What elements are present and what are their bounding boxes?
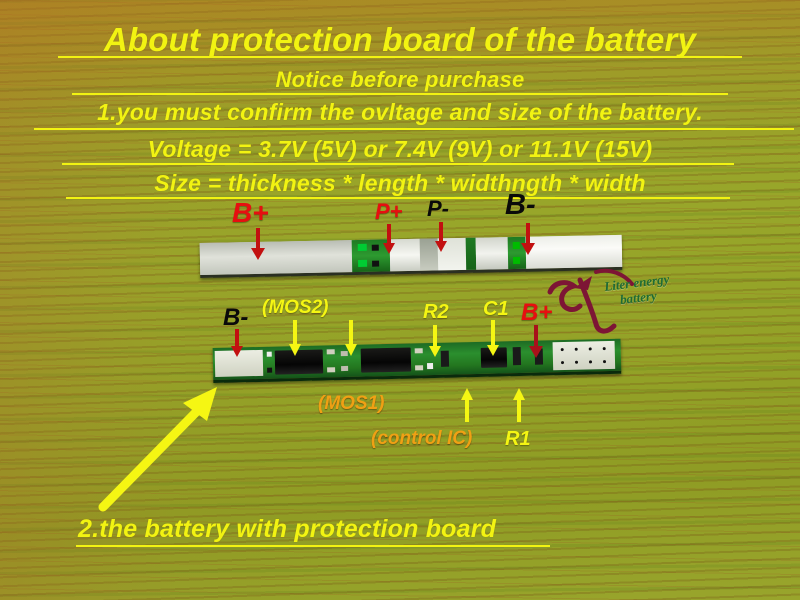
- notice-heading: Notice before purchase: [276, 67, 525, 93]
- voltage-line: Voltage = 3.7V (5V) or 7.4V (9V) or 11.1…: [148, 136, 653, 163]
- arrow-c1: [486, 320, 500, 356]
- label-p-minus-top: P-: [427, 196, 449, 222]
- notice-underline: [72, 93, 728, 95]
- requirement-line-1: 1.you must confirm the ovltage and size …: [97, 99, 703, 126]
- label-mos1: (MOS1): [318, 393, 385, 415]
- label-r1: R1: [505, 428, 531, 451]
- page-title: About protection board of the battery: [104, 21, 696, 59]
- arrow-r2: [428, 325, 442, 357]
- label-r2: R2: [423, 301, 449, 324]
- arrow-b-plus-bottom: [529, 325, 543, 358]
- image-canvas: About protection board of the battery No…: [0, 0, 800, 600]
- size-line: Size = thickness * length * widthngth * …: [154, 170, 645, 197]
- arrow-battery-callout: [95, 375, 245, 515]
- label-control-ic: (control IC): [371, 428, 472, 450]
- label-mos2: (MOS2): [262, 297, 329, 319]
- label-c1: C1: [483, 298, 509, 321]
- label-b-plus-top: B+: [232, 197, 269, 229]
- watermark-text: Liter energy battery: [603, 271, 672, 309]
- label-p-plus-top: P+: [375, 199, 403, 225]
- arrow-r1: [512, 388, 526, 422]
- label-b-minus-top: B-: [505, 189, 536, 222]
- bottom-caption: 2.the battery with protection board: [78, 515, 496, 544]
- protection-board-bottom: [213, 339, 622, 383]
- label-b-plus-bottom: B+: [521, 299, 552, 327]
- arrow-p-plus-top: [382, 224, 396, 254]
- arrow-b-minus-bottom: [230, 329, 244, 357]
- line2-underline: [62, 163, 734, 165]
- arrow-b-minus-top: [520, 223, 536, 255]
- arrow-mos2: [288, 320, 302, 356]
- line1-underline: [34, 128, 794, 130]
- caption-underline: [76, 545, 550, 547]
- label-b-minus-bottom: B-: [223, 304, 248, 332]
- arrow-mos1: [344, 320, 358, 356]
- arrow-b-plus-top: [250, 228, 266, 260]
- title-underline: [58, 56, 742, 58]
- arrow-p-minus-top: [434, 222, 448, 252]
- arrow-control-ic: [460, 388, 474, 422]
